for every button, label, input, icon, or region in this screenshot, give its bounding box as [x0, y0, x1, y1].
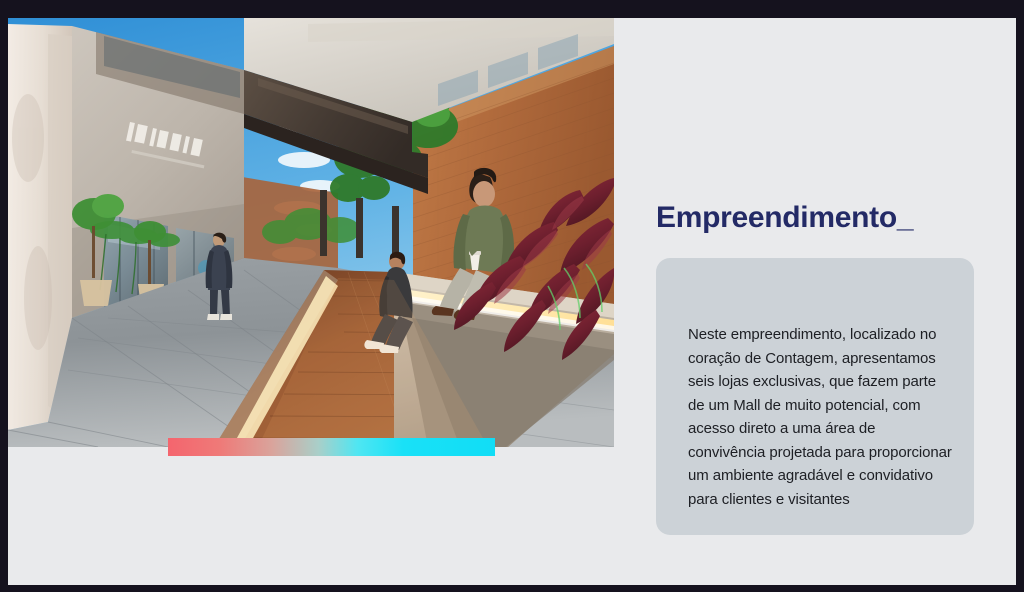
description-text: Neste empreendimento, localizado no cora… — [688, 323, 956, 511]
description-card: Neste empreendimento, localizado no cora… — [656, 258, 974, 535]
hero-photo — [8, 18, 614, 447]
accent-gradient-bar — [168, 438, 495, 456]
text-column: Empreendimento_ Neste empreendimento, lo… — [648, 18, 1016, 585]
hero-photo-illustration — [8, 18, 614, 447]
page-title: Empreendimento_ — [656, 201, 913, 235]
slide-frame: Empreendimento_ Neste empreendimento, lo… — [8, 18, 1016, 585]
